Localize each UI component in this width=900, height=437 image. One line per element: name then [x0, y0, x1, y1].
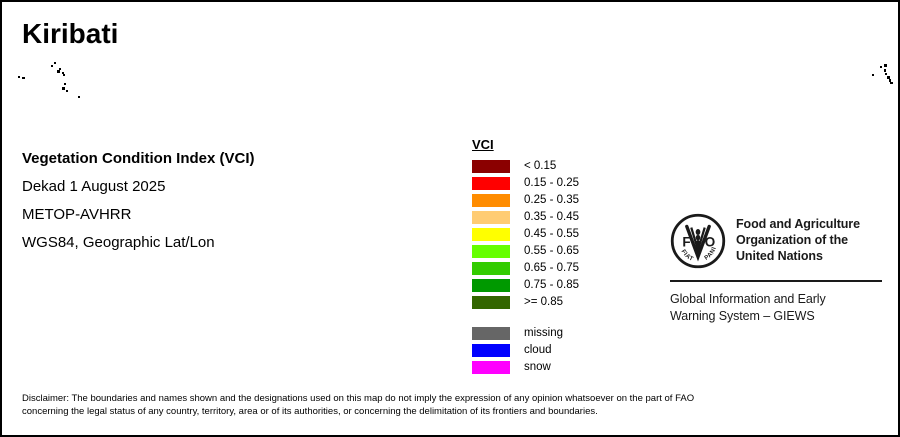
legend-vci-row: 0.65 - 0.75	[472, 260, 622, 277]
disclaimer-line: concerning the legal status of any count…	[22, 405, 882, 418]
fao-logo-row: F O FIAT PANIS Food and AgricultureOrgan…	[670, 213, 886, 269]
legend-color-swatch	[472, 344, 510, 357]
legend-panel: VCI < 0.150.15 - 0.250.25 - 0.350.35 - 0…	[472, 138, 622, 376]
legend-status-row: cloud	[472, 342, 622, 359]
island-feature	[51, 65, 53, 67]
island-feature	[78, 96, 80, 98]
legend-color-swatch	[472, 262, 510, 275]
island-feature	[64, 83, 66, 85]
giews-subtitle: Global Information and EarlyWarning Syst…	[670, 291, 886, 325]
island-feature	[889, 79, 891, 82]
legend-color-swatch	[472, 279, 510, 292]
legend-label: missing	[524, 327, 563, 340]
legend-color-swatch	[472, 177, 510, 190]
legend-vci-row: 0.75 - 0.85	[472, 277, 622, 294]
island-feature	[887, 76, 890, 79]
legend-status-list: missingcloudsnow	[472, 325, 622, 376]
island-feature	[63, 74, 65, 76]
fao-branding-block: F O FIAT PANIS Food and AgricultureOrgan…	[670, 213, 886, 325]
fao-name-line: United Nations	[736, 248, 860, 264]
legend-label: 0.65 - 0.75	[524, 262, 579, 275]
legend-vci-row: >= 0.85	[472, 294, 622, 311]
island-feature	[62, 87, 65, 90]
island-feature	[59, 68, 61, 70]
legend-color-swatch	[472, 211, 510, 224]
island-feature	[66, 90, 68, 92]
legend-vci-list: < 0.150.15 - 0.250.25 - 0.350.35 - 0.450…	[472, 158, 622, 311]
metadata-line: Dekad 1 August 2025	[22, 173, 442, 201]
island-feature	[880, 66, 882, 68]
metadata-line: Vegetation Condition Index (VCI)	[22, 145, 442, 173]
disclaimer-line: Disclaimer: The boundaries and names sho…	[22, 392, 882, 405]
legend-color-swatch	[472, 228, 510, 241]
fao-divider	[670, 280, 882, 282]
legend-status-row: missing	[472, 325, 622, 342]
legend-color-swatch	[472, 327, 510, 340]
fao-organization-name: Food and AgricultureOrganization of theU…	[736, 213, 860, 264]
metadata-line: METOP-AVHRR	[22, 201, 442, 229]
legend-color-swatch	[472, 160, 510, 173]
legend-label: 0.45 - 0.55	[524, 228, 579, 241]
legend-label: 0.35 - 0.45	[524, 211, 579, 224]
island-feature	[54, 62, 56, 64]
legend-vci-row: 0.25 - 0.35	[472, 192, 622, 209]
island-feature	[18, 76, 20, 78]
legend-color-swatch	[472, 361, 510, 374]
island-feature	[22, 77, 25, 79]
legend-color-swatch	[472, 245, 510, 258]
metadata-block: Vegetation Condition Index (VCI)Dekad 1 …	[22, 145, 442, 257]
legend-label: 0.25 - 0.35	[524, 194, 579, 207]
fao-name-line: Organization of the	[736, 232, 860, 248]
legend-label: 0.55 - 0.65	[524, 245, 579, 258]
island-feature	[885, 73, 887, 75]
legend-status-row: snow	[472, 359, 622, 376]
metadata-line: WGS84, Geographic Lat/Lon	[22, 229, 442, 257]
page-title: Kiribati	[22, 20, 118, 48]
island-feature	[872, 74, 874, 76]
legend-title: VCI	[472, 138, 622, 152]
disclaimer-text: Disclaimer: The boundaries and names sho…	[22, 392, 882, 418]
giews-line: Warning System – GIEWS	[670, 308, 886, 325]
legend-vci-row: 0.45 - 0.55	[472, 226, 622, 243]
legend-spacer	[472, 311, 622, 325]
legend-vci-row: < 0.15	[472, 158, 622, 175]
fao-name-line: Food and Agriculture	[736, 216, 860, 232]
island-feature	[62, 72, 64, 74]
legend-label: cloud	[524, 344, 552, 357]
legend-vci-row: 0.35 - 0.45	[472, 209, 622, 226]
legend-vci-row: 0.55 - 0.65	[472, 243, 622, 260]
legend-label: 0.75 - 0.85	[524, 279, 579, 292]
giews-line: Global Information and Early	[670, 291, 886, 308]
legend-label: < 0.15	[524, 160, 556, 173]
legend-label: 0.15 - 0.25	[524, 177, 579, 190]
island-feature	[57, 70, 60, 73]
island-feature	[890, 82, 893, 84]
fao-emblem-icon: F O FIAT PANIS	[670, 213, 726, 269]
legend-label: snow	[524, 361, 551, 374]
legend-color-swatch	[472, 194, 510, 207]
island-feature	[884, 69, 886, 72]
island-feature	[884, 64, 887, 67]
svg-text:F: F	[682, 235, 690, 250]
legend-color-swatch	[472, 296, 510, 309]
legend-label: >= 0.85	[524, 296, 563, 309]
map-page: Kiribati Vegetation Condition Index (VCI…	[0, 0, 900, 437]
legend-vci-row: 0.15 - 0.25	[472, 175, 622, 192]
